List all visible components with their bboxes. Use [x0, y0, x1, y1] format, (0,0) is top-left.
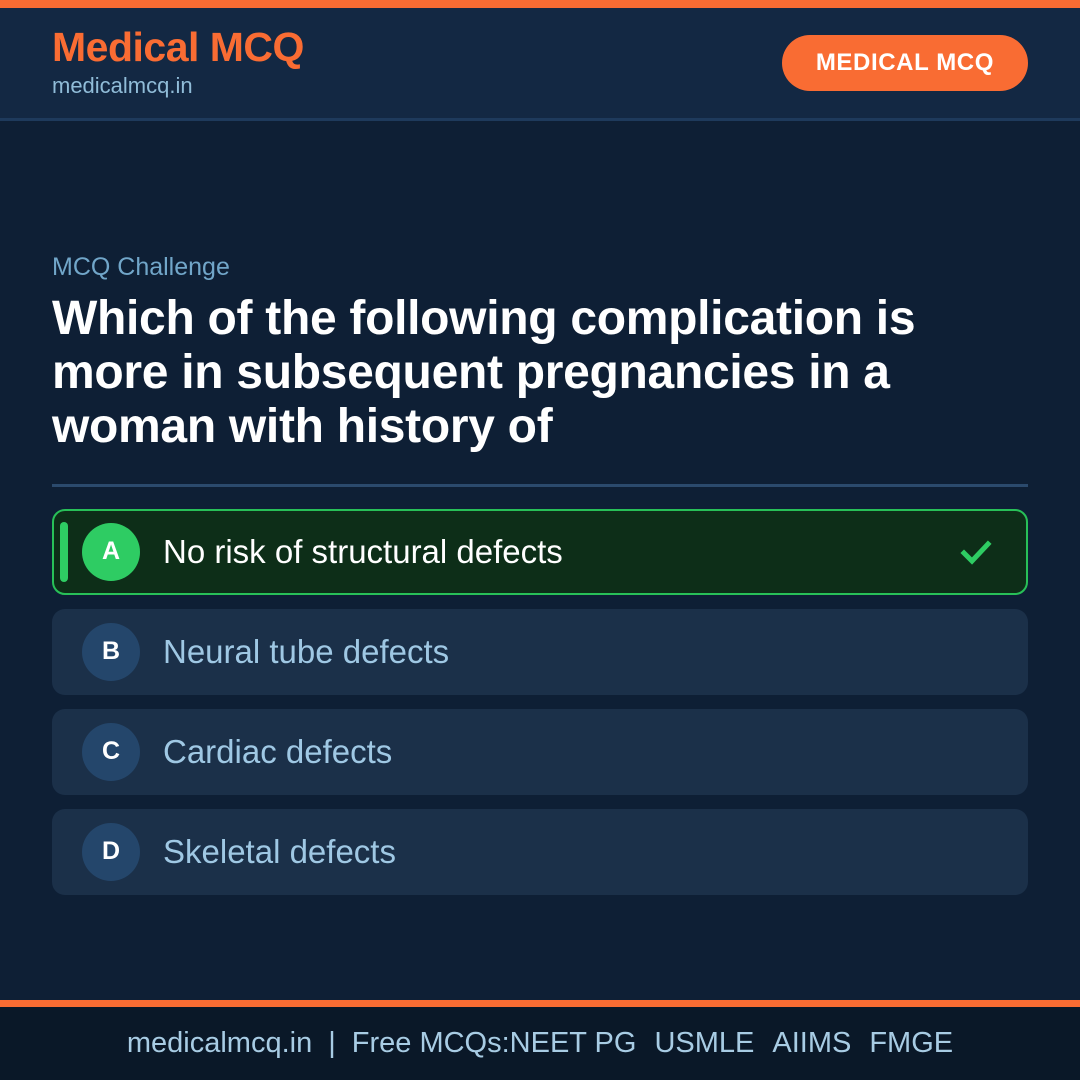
check-icon — [956, 532, 996, 572]
top-accent-strip — [0, 0, 1080, 8]
footer-tag-aiims: AIIMS — [772, 1027, 851, 1060]
footer-exam-tags: NEET PG USMLE AIIMS FMGE — [510, 1027, 953, 1060]
footer-tag-neet-pg: NEET PG — [510, 1027, 637, 1060]
header-bar: Medical MCQ medicalmcq.in MEDICAL MCQ — [0, 8, 1080, 121]
options-list: A No risk of structural defects B Neural… — [52, 509, 1028, 895]
footer-tag-usmle: USMLE — [654, 1027, 754, 1060]
footer-separator: | — [312, 1027, 352, 1060]
option-a-letter: A — [82, 523, 140, 581]
brand-title: Medical MCQ — [52, 26, 304, 69]
question-area: MCQ Challenge Which of the following com… — [0, 121, 1080, 1000]
option-b-letter: B — [82, 623, 140, 681]
footer-free-label: Free MCQs: — [352, 1027, 510, 1060]
brand-subtitle: medicalmcq.in — [52, 72, 304, 101]
option-c-text: Cardiac defects — [163, 733, 392, 771]
brand: Medical MCQ medicalmcq.in — [52, 26, 304, 101]
option-c-letter: C — [82, 723, 140, 781]
option-c[interactable]: C Cardiac defects — [52, 709, 1028, 795]
section-divider — [52, 484, 1028, 487]
correct-accent-bar — [60, 522, 68, 582]
bottom-accent-strip — [0, 1000, 1080, 1007]
option-a[interactable]: A No risk of structural defects — [52, 509, 1028, 595]
option-b-text: Neural tube defects — [163, 633, 449, 671]
footer-site: medicalmcq.in — [127, 1027, 312, 1060]
header-badge: MEDICAL MCQ — [782, 35, 1028, 91]
mcq-card: Medical MCQ medicalmcq.in MEDICAL MCQ MC… — [0, 0, 1080, 1080]
footer-tag-fmge: FMGE — [869, 1027, 953, 1060]
eyebrow-label: MCQ Challenge — [52, 253, 1028, 282]
question-text: Which of the following complication is m… — [52, 292, 982, 455]
option-d[interactable]: D Skeletal defects — [52, 809, 1028, 895]
footer-bar: medicalmcq.in | Free MCQs: NEET PG USMLE… — [0, 1007, 1080, 1080]
option-a-text: No risk of structural defects — [163, 533, 563, 571]
option-b[interactable]: B Neural tube defects — [52, 609, 1028, 695]
option-d-letter: D — [82, 823, 140, 881]
option-d-text: Skeletal defects — [163, 833, 396, 871]
